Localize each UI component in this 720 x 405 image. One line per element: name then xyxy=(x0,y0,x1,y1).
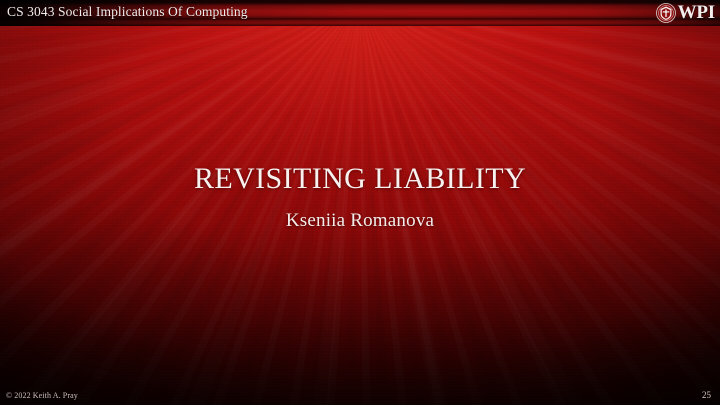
slide-title: REVISITING LIABILITY xyxy=(0,160,720,198)
wpi-wordmark: WPI xyxy=(678,3,715,22)
wpi-seal-icon xyxy=(656,3,676,23)
slide-page-number: 25 xyxy=(702,390,711,401)
copyright-notice: © 2022 Keith A. Pray xyxy=(6,390,78,401)
wpi-logo: WPI xyxy=(656,1,715,24)
slide-subtitle-author: Kseniia Romanova xyxy=(0,208,720,234)
course-title: CS 3043 Social Implications Of Computing xyxy=(7,2,248,21)
presentation-slide: CS 3043 Social Implications Of Computing… xyxy=(0,0,720,405)
slide-title-block: REVISITING LIABILITY Kseniia Romanova xyxy=(0,160,720,234)
slide-header-bar: CS 3043 Social Implications Of Computing… xyxy=(0,0,720,26)
